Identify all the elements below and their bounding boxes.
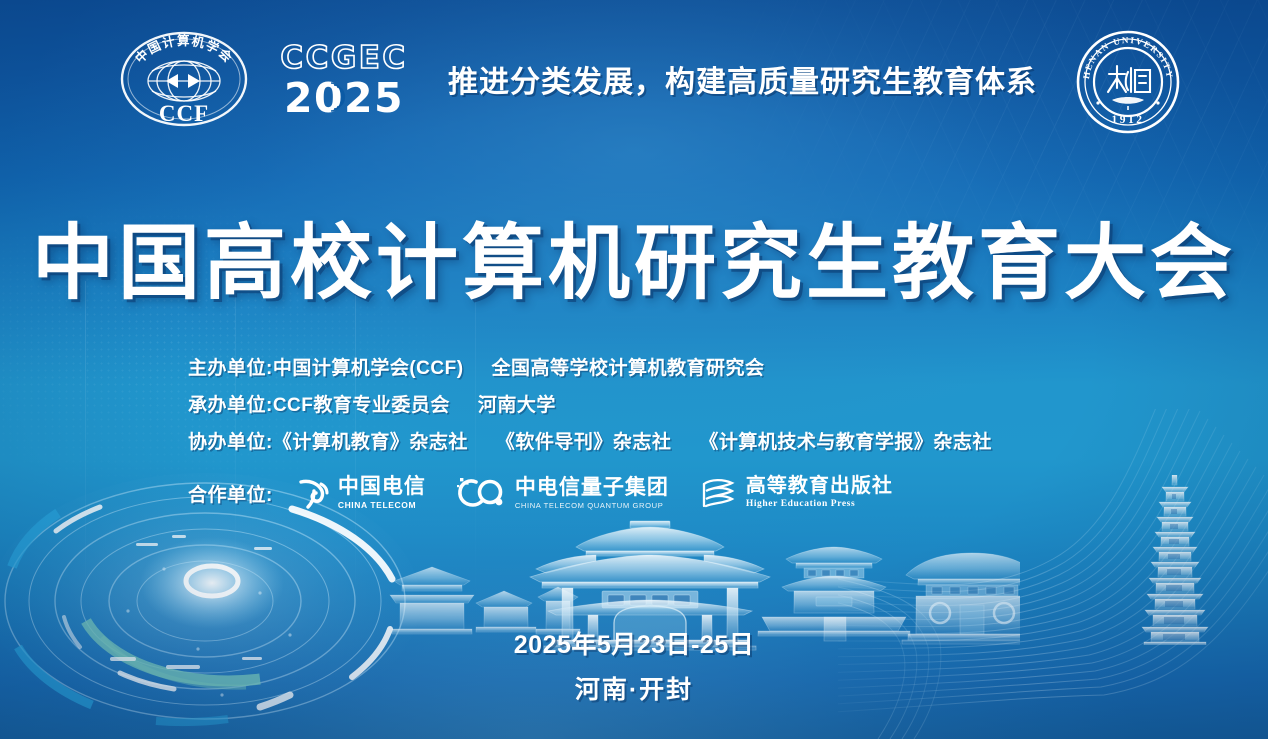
henan-founding-year: 1912 [1112, 114, 1145, 126]
organizer-value: 《计算机技术与教育学报》杂志社 [699, 427, 992, 454]
higher-education-press-logo: 高等教育出版社 Higher Education Press [699, 475, 893, 511]
organizer-block: 主办单位: 中国计算机学会(CCF) 全国高等学校计算机教育研究会 承办单位: … [188, 348, 1168, 459]
event-date: 2025年5月23日-25日 [0, 625, 1268, 661]
event-info-block: 2025年5月23日-25日 河南·开封 [0, 625, 1268, 706]
organizer-value: 《计算机教育》杂志社 [273, 427, 468, 454]
organizer-row-undertaker: 承办单位: CCF教育专业委员会 河南大学 [188, 385, 1168, 422]
book-stack-icon [699, 475, 739, 511]
ccf-wordmark: CCF [159, 101, 209, 126]
china-telecom-quantum-group-logo: 中电信量子集团 CHINA TELECOM QUANTUM GROUP [456, 476, 669, 510]
conference-banner: 中国计算机学会 CCF CCGEC 2025 [0, 0, 1268, 739]
organizer-row-host: 主办单位: 中国计算机学会(CCF) 全国高等学校计算机教育研究会 [188, 348, 1168, 385]
organizer-label-host: 主办单位: [188, 353, 273, 380]
page-title: 中国高校计算机研究生教育大会 [0, 196, 1268, 315]
ccgec-logo: CCGEC 2025 [276, 38, 412, 120]
china-telecom-cn: 中国电信 [338, 476, 426, 497]
higher-education-press-cn: 高等教育出版社 [746, 476, 893, 496]
conference-tagline: 推进分类发展，构建高质量研究生教育体系 [448, 57, 1037, 101]
organizer-label-undertaker: 承办单位: [188, 390, 273, 417]
organizer-values-undertaker: CCF教育专业委员会 河南大学 [273, 390, 556, 417]
event-location: 河南·开封 [0, 670, 1268, 706]
organizer-values-coorganizer: 《计算机教育》杂志社 《软件导刊》杂志社 《计算机技术与教育学报》杂志社 [273, 427, 992, 454]
organizer-value: 《软件导刊》杂志社 [496, 427, 672, 454]
china-telecom-logo: 中国电信 CHINA TELECOM [297, 475, 426, 511]
china-telecom-en: CHINA TELECOM [338, 501, 426, 510]
higher-education-press-en: Higher Education Press [746, 500, 893, 510]
organizer-value: CCF教育专业委员会 [273, 390, 450, 417]
ccgec-wordmark: CCGEC [280, 40, 407, 76]
organizer-label-coorganizer: 协办单位: [188, 427, 273, 454]
ccf-logo: 中国计算机学会 CCF [118, 29, 250, 129]
telecom-swoosh-icon [297, 475, 331, 511]
organizer-value: 河南大学 [478, 390, 556, 417]
organizer-values-host: 中国计算机学会(CCF) 全国高等学校计算机教育研究会 [273, 353, 765, 380]
organizer-value: 全国高等学校计算机教育研究会 [492, 353, 765, 380]
iron-pagoda-illustration [1138, 475, 1212, 645]
quantum-group-en: CHINA TELECOM QUANTUM GROUP [515, 502, 669, 510]
partner-label: 合作单位: [188, 480, 273, 507]
partner-row: 合作单位: 中国电信 CHINA TELECOM [188, 470, 893, 516]
organizer-row-coorganizer: 协办单位: 《计算机教育》杂志社 《软件导刊》杂志社 《计算机技术与教育学报》杂… [188, 422, 1168, 459]
quantum-ring-icon [456, 476, 508, 510]
henan-university-logo: HENAN UNIVERSITY 1912 [1076, 30, 1180, 134]
organizer-value: 中国计算机学会(CCF) [273, 353, 464, 380]
quantum-group-cn: 中电信量子集团 [515, 477, 669, 498]
